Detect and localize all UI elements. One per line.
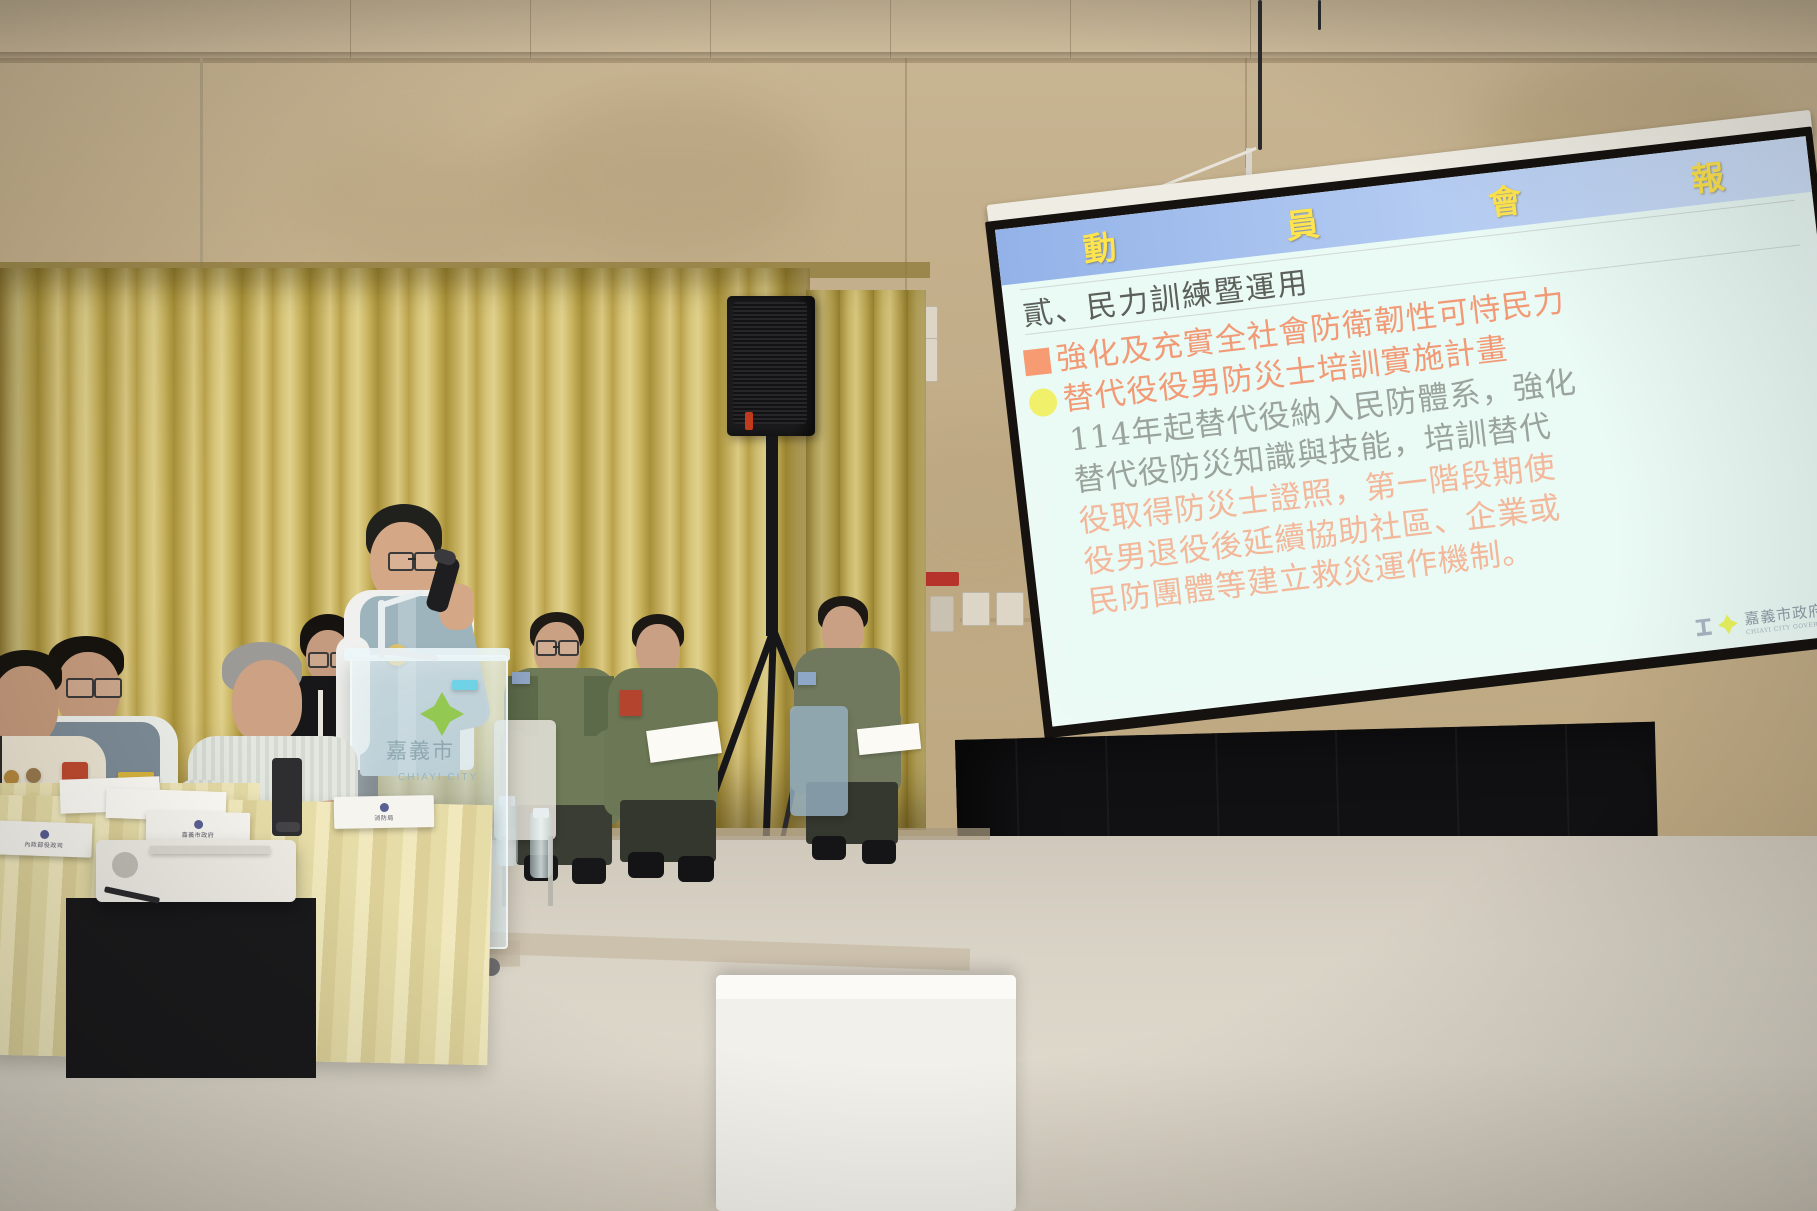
circle-bullet-icon (1028, 387, 1059, 418)
shoe (812, 836, 846, 860)
ceiling-tile (530, 0, 711, 58)
light-switch[interactable] (996, 592, 1024, 626)
projection-screen: 動 員 會 報 貳、民力訓練暨運用 強化及充實全社會防衛韌性可恃民力 替代役役男… (985, 126, 1817, 738)
glasses-lens (558, 640, 579, 656)
slide-header-char-1: 動 (1080, 220, 1118, 271)
shoe (628, 852, 664, 878)
speaker-stand-pole (766, 436, 778, 636)
hanging-cable (1258, 0, 1262, 150)
podium-sublabel: CHIAYI CITY (398, 772, 478, 783)
shoe (572, 858, 606, 884)
ceiling-tile (710, 0, 891, 58)
call-point[interactable] (930, 596, 954, 632)
nameplate-3: 消防局 (334, 795, 435, 829)
ceiling-tile (170, 0, 351, 58)
head (0, 666, 58, 746)
slide-header-char-3: 會 (1486, 173, 1524, 224)
projector-vent (150, 846, 270, 854)
glasses-bridge (553, 646, 559, 648)
ceiling-tile (1070, 0, 1251, 58)
slide-org-logo: 嘉義市政府 CHIAYI CITY GOVERNMENT (1695, 597, 1817, 642)
emblem-icon (40, 829, 49, 838)
slide-header-char-4: 報 (1688, 150, 1726, 201)
speaker-led (745, 412, 753, 430)
uniform-patch (620, 690, 642, 716)
speaker-grill (733, 302, 807, 424)
nameplate-1: 內政部役政司 (0, 820, 93, 857)
light-switch[interactable] (962, 592, 990, 626)
podium-tape-marker (452, 680, 478, 690)
uniform-badge (512, 672, 530, 684)
nameplate-1-text: 內政部役政司 (24, 839, 63, 849)
square-bullet-icon (1023, 348, 1052, 377)
desk-microphone-base (276, 822, 300, 832)
head (232, 660, 302, 744)
badge (26, 768, 41, 783)
slide-surface: 動 員 會 報 貳、民力訓練暨運用 強化及充實全社會防衛韌性可恃民力 替代役役男… (995, 136, 1817, 726)
emblem-icon (379, 802, 388, 811)
glasses-lens (66, 678, 94, 698)
wall-seam (0, 58, 1817, 63)
uniform-badge (798, 672, 816, 685)
water-bottle[interactable] (530, 812, 552, 878)
bottle-cap (533, 808, 549, 818)
projector-cart-drape (66, 898, 316, 1078)
equipment-case-lid (716, 975, 1016, 999)
slide-header-char-2: 員 (1283, 197, 1321, 248)
podium-label: 嘉義市 (386, 735, 455, 765)
glasses-lens (388, 552, 414, 571)
glasses-bridge (408, 558, 416, 560)
shoe (678, 856, 714, 882)
meeting-room-photo: 動 員 會 報 貳、民力訓練暨運用 強化及充實全社會防衛韌性可恃民力 替代役役男… (0, 0, 1817, 1211)
nameplate-2-text: 嘉義市政府 (182, 829, 215, 839)
projector-lens (112, 852, 138, 878)
wall-stain (300, 140, 560, 270)
pillar-icon (1695, 618, 1712, 637)
emblem-icon (194, 819, 203, 828)
glasses-lens (536, 640, 557, 656)
glasses-lens (94, 678, 122, 698)
shoe (862, 840, 896, 864)
equipment-case (716, 975, 1016, 1211)
ceiling-tile (890, 0, 1071, 58)
hanging-cable (1318, 0, 1321, 30)
chair[interactable] (790, 706, 848, 816)
glasses-lens (308, 652, 329, 668)
diamond-icon (1717, 613, 1739, 635)
wall-cable (200, 58, 203, 268)
ceiling-tile (350, 0, 531, 58)
nameplate-3-text: 消防局 (374, 812, 394, 821)
slide-org-name: 嘉義市政府 CHIAYI CITY GOVERNMENT (1743, 597, 1817, 636)
wall-stain (520, 90, 820, 260)
